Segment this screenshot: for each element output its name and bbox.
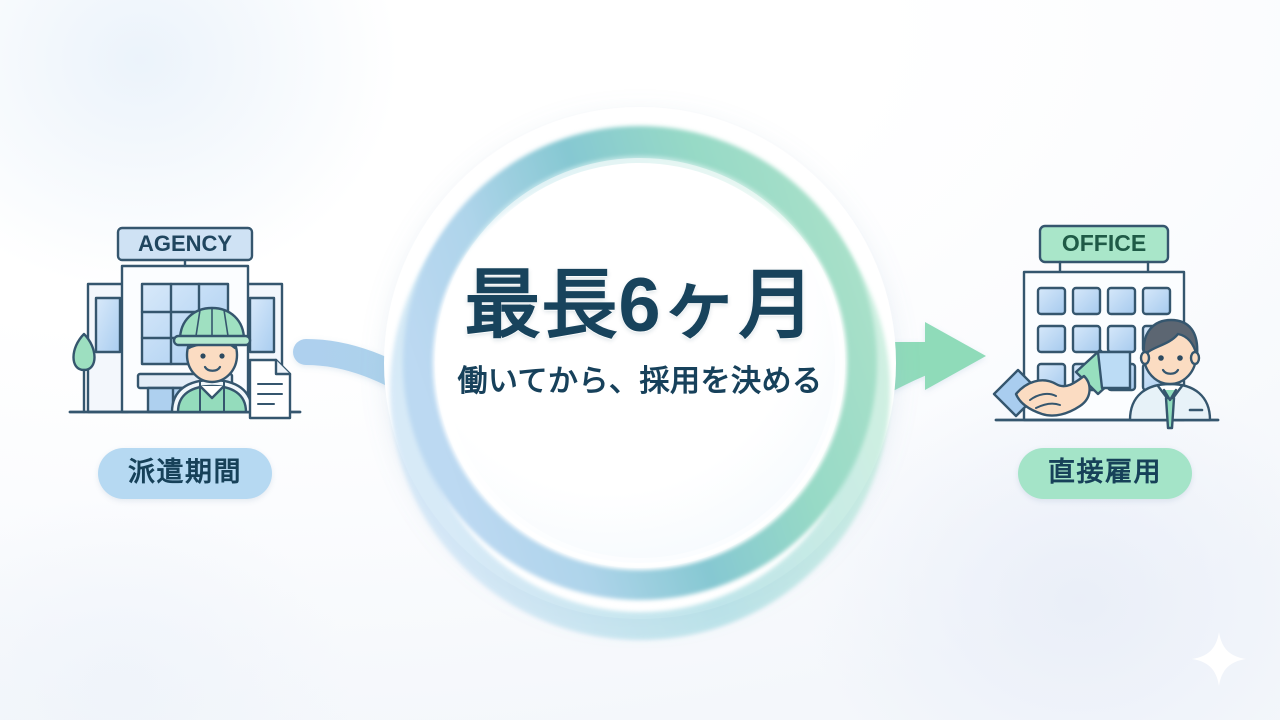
- office-building-handshake-icon: OFFICE: [980, 222, 1230, 438]
- agency-sign-label: AGENCY: [138, 231, 232, 256]
- page-title: 最長6ヶ月: [390, 268, 890, 344]
- step-dispatch-period: AGENCY: [60, 222, 310, 499]
- sparkle-icon: [1188, 628, 1250, 690]
- page-subtitle: 働いてから、採用を決める: [390, 356, 890, 400]
- office-sign-label: OFFICE: [1062, 230, 1146, 256]
- step-direct-employment: OFFICE: [980, 222, 1230, 499]
- infographic-canvas: 最長6ヶ月 働いてから、採用を決める: [0, 0, 1280, 720]
- center-copy: 最長6ヶ月 働いてから、採用を決める: [390, 268, 890, 400]
- status-badge-dispatch: 派遣期間: [98, 448, 272, 499]
- status-badge-direct-employment: 直接雇用: [1018, 448, 1192, 499]
- agency-building-worker-icon: AGENCY: [60, 222, 310, 438]
